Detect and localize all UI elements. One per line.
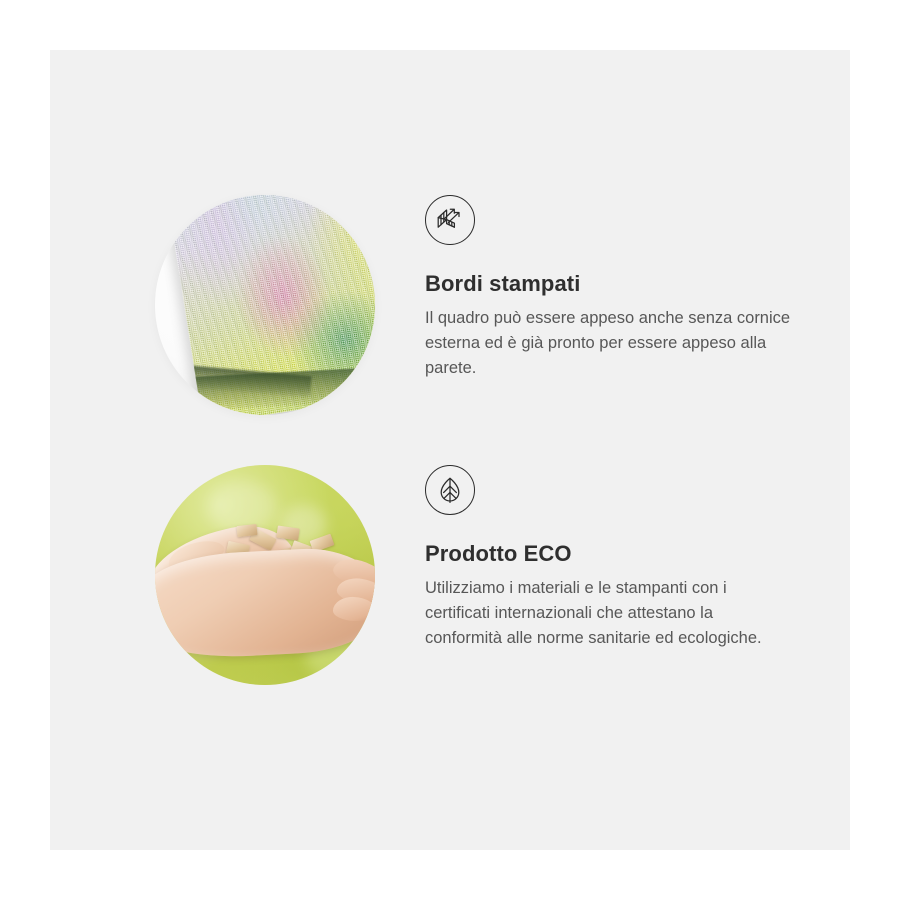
canvas-wedge — [166, 195, 375, 415]
feature-block-printed-edges: Bordi stampati Il quadro può essere appe… — [50, 195, 850, 465]
feature-text-eco-product: Prodotto ECO Utilizziamo i materiali e l… — [425, 465, 805, 651]
leaf-icon — [425, 465, 475, 515]
feature-image-printed-edges — [155, 195, 375, 415]
finger — [333, 596, 375, 622]
feature-text-printed-edges: Bordi stampati Il quadro può essere appe… — [425, 195, 805, 381]
feature-description: Il quadro può essere appeso anche senza … — [425, 306, 793, 381]
feature-block-eco-product: Prodotto ECO Utilizziamo i materiali e l… — [50, 465, 850, 735]
feature-title: Bordi stampati — [425, 272, 805, 296]
canvas-corner-photo — [155, 195, 375, 415]
product-feature-page: Bordi stampati Il quadro può essere appe… — [0, 0, 900, 900]
hands-wood-chips-photo — [155, 465, 375, 685]
printed-edges-icon — [425, 195, 475, 245]
feature-title: Prodotto ECO — [425, 542, 805, 566]
feature-image-eco-product — [155, 465, 375, 685]
content-panel: Bordi stampati Il quadro può essere appe… — [50, 50, 850, 850]
feature-description: Utilizziamo i materiali e le stampanti c… — [425, 576, 793, 651]
